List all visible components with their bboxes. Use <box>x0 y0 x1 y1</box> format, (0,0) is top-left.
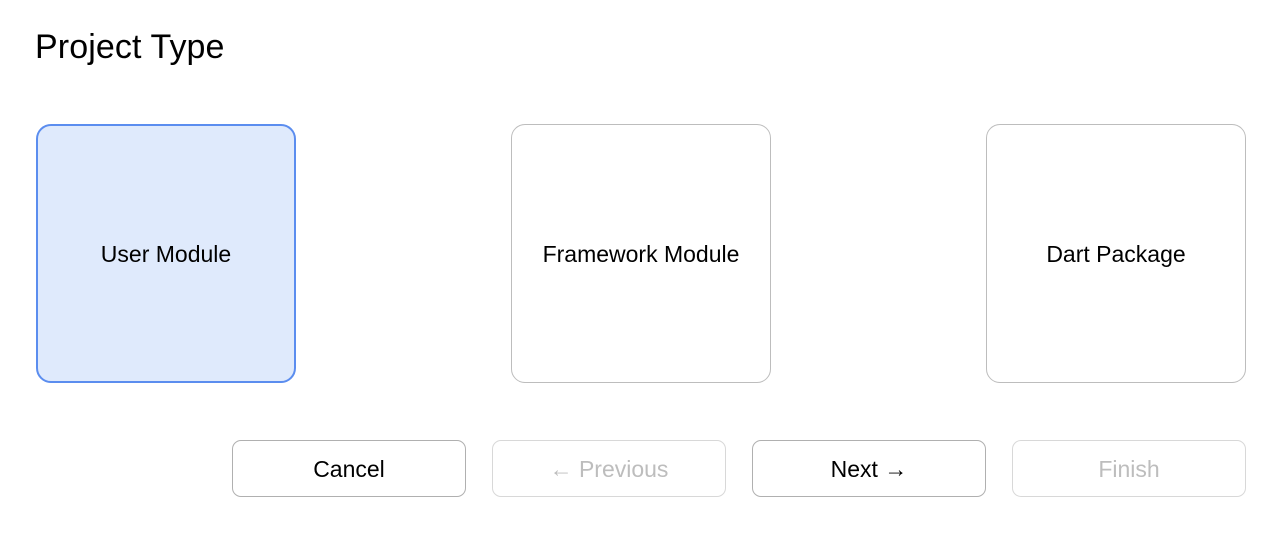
project-type-card-framework-module[interactable]: Framework Module <box>511 124 771 383</box>
cancel-button[interactable]: Cancel <box>232 440 466 497</box>
previous-button[interactable]: ← Previous <box>492 440 726 497</box>
project-type-card-label: User Module <box>87 238 245 270</box>
next-button[interactable]: Next → <box>752 440 986 497</box>
wizard-button-bar: Cancel ← Previous Next → Finish <box>232 440 1246 497</box>
page-title: Project Type <box>35 25 225 69</box>
project-type-card-label: Dart Package <box>1032 238 1199 270</box>
project-type-card-label: Framework Module <box>529 238 754 270</box>
project-type-card-dart-package[interactable]: Dart Package <box>986 124 1246 383</box>
project-type-card-list: User Module Framework Module Dart Packag… <box>36 124 1246 383</box>
project-type-card-user-module[interactable]: User Module <box>36 124 296 383</box>
finish-button[interactable]: Finish <box>1012 440 1246 497</box>
project-type-wizard-page: Project Type User Module Framework Modul… <box>0 0 1278 540</box>
